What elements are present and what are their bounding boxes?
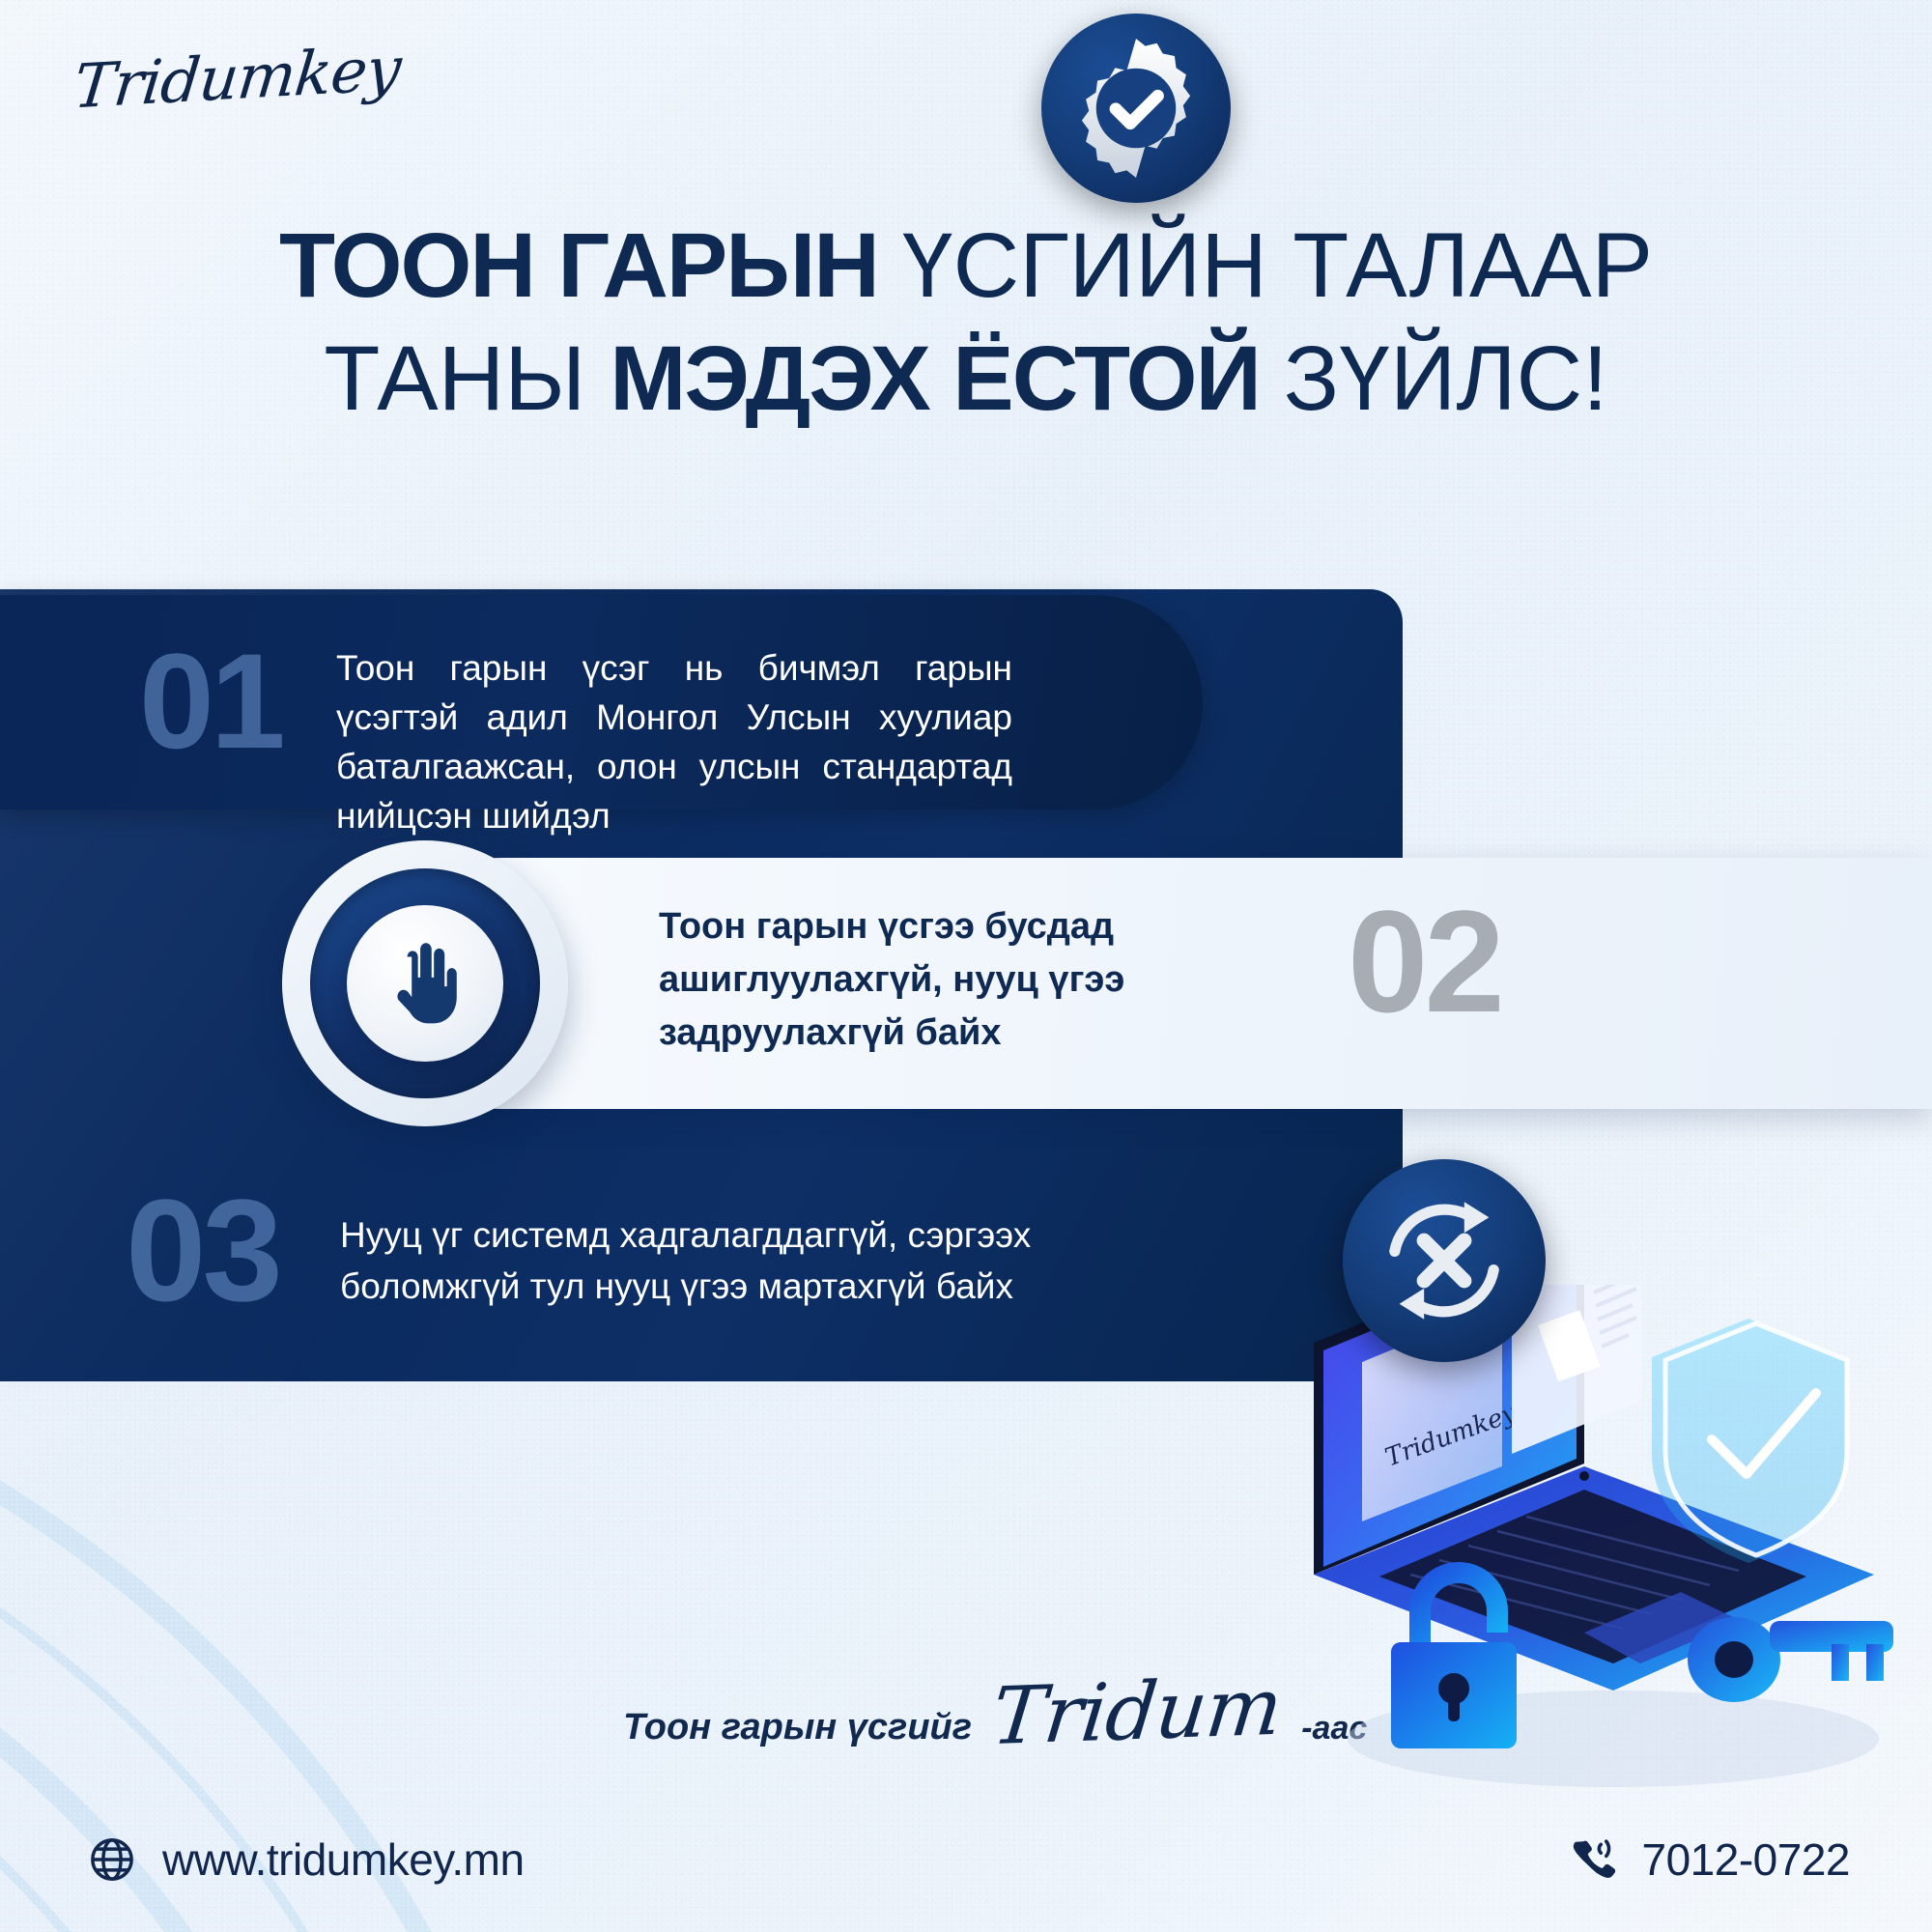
headline-line2-bold: МЭДЭХ ЁСТОЙ [610,327,1260,430]
page-title: ТООН ГАРЫН ҮСГИЙН ТАЛААР ТАНЫ МЭДЭХ ЁСТО… [0,220,1932,425]
headline-line2-light-a: ТАНЫ [324,327,585,430]
tagline-brand: Tridum [987,1662,1285,1763]
phone-number[interactable]: 7012-0722 [1642,1833,1850,1886]
headline-line1-light: ҮСГИЙН ТАЛААР [902,214,1653,317]
tip-card-01: 01 Тоон гарын үсэг нь бичмэл гарын үсэгт… [0,595,1203,810]
phone-ring-icon [1571,1836,1617,1883]
stop-hand-icon [282,840,568,1126]
headline-line2-light-b: ЗҮЙЛС! [1284,327,1608,430]
tagline: Тоон гарын үсгийг Tridum -аас [623,1666,1367,1758]
tip-text-02: Тоон гарын үсгээ бусдад ашиглуулахгүй, н… [659,900,1277,1060]
security-laptop-illustration: Tridumkey [1294,1285,1932,1806]
tip-card-02: Тоон гарын үсгээ бусдад ашиглуулахгүй, н… [377,858,1932,1109]
website-url[interactable]: www.tridumkey.mn [162,1833,525,1886]
tip-card-03: 03 Нууц үг системд хадгалагддаггүй, сэрг… [0,1145,1403,1381]
verified-badge-icon [1041,14,1231,203]
tip-number-01: 01 [139,634,282,769]
tip-text-03: Нууц үг системд хадгалагддаггүй, сэргээх… [340,1210,1209,1312]
footer-phone[interactable]: 7012-0722 [1571,1833,1850,1886]
tip-number-03: 03 [126,1178,279,1322]
tagline-prefix: Тоон гарын үсгийг [623,1707,972,1748]
tip-text-01: Тоон гарын үсэг нь бичмэл гарын үсэгтэй … [336,643,1012,840]
footer-website[interactable]: www.tridumkey.mn [87,1833,525,1886]
no-restore-icon [1343,1159,1546,1362]
globe-icon [87,1834,137,1885]
headline-line1-bold: ТООН ГАРЫН [279,214,878,317]
tip-number-02: 02 [1348,889,1501,1034]
